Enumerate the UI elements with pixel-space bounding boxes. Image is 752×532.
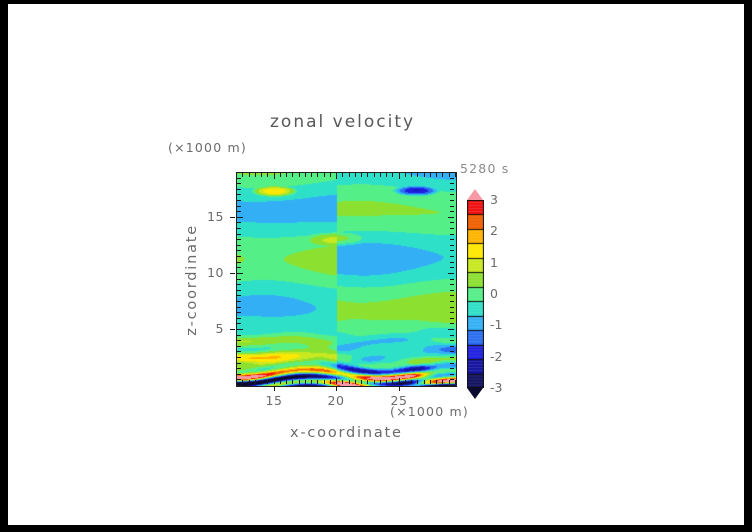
colorbar-tick-label: -3 (490, 380, 502, 395)
axis-tick (237, 385, 243, 386)
axis-tick (442, 380, 443, 384)
axis-tick (317, 380, 318, 384)
axis-tick (242, 380, 243, 384)
colorbar-extend-min-arrow (467, 388, 483, 399)
colorbar-tick-label: -2 (490, 349, 502, 364)
axis-tick (237, 172, 241, 173)
axis-tick (411, 380, 412, 384)
axis-tick (450, 245, 454, 246)
axis-tick-label: 15 (198, 209, 224, 224)
axis-tick (237, 245, 241, 246)
axis-tick (450, 346, 454, 347)
axis-tick (280, 173, 281, 177)
axis-tick (237, 312, 241, 313)
axis-tick (450, 318, 454, 319)
contour-field-canvas (237, 173, 456, 386)
axis-tick (336, 386, 337, 391)
axis-tick (380, 380, 381, 384)
axis-tick (237, 183, 241, 184)
axis-tick (299, 173, 300, 177)
axis-tick (450, 267, 454, 268)
axis-tick (417, 380, 418, 384)
axis-tick (237, 340, 241, 341)
axis-tick (450, 189, 454, 190)
axis-tick (237, 256, 241, 257)
axis-tick (450, 363, 454, 364)
figure-window: zonal velocity (×1000 m) 5280 s 15202551… (0, 0, 752, 532)
axis-tick (261, 380, 262, 384)
axis-tick (237, 357, 241, 358)
axis-tick (237, 290, 241, 291)
axis-tick (380, 173, 381, 177)
axis-tick (274, 378, 275, 384)
axis-tick (237, 346, 241, 347)
axis-tick (450, 222, 454, 223)
axis-tick (292, 173, 293, 177)
axis-tick (342, 173, 343, 177)
axis-tick-label: 5 (198, 321, 224, 336)
axis-tick (450, 211, 454, 212)
axis-tick (274, 173, 275, 179)
axis-tick (299, 380, 300, 384)
axis-tick (450, 206, 454, 207)
axis-tick (236, 173, 237, 177)
axis-tick (448, 385, 454, 386)
axis-tick-label: 15 (266, 393, 283, 408)
axis-tick (450, 374, 454, 375)
axis-tick (424, 173, 425, 177)
colorbar-tick-label: -1 (490, 317, 502, 332)
axis-tick (311, 380, 312, 384)
axis-tick (267, 173, 268, 177)
axis-tick (237, 323, 241, 324)
axis-tick (430, 380, 431, 384)
axis-tick (450, 368, 454, 369)
axis-tick (237, 363, 241, 364)
axis-tick (450, 307, 454, 308)
axis-tick (442, 173, 443, 177)
axis-tick (237, 189, 241, 190)
axis-tick (324, 380, 325, 384)
axis-tick (455, 380, 456, 384)
axis-tick (237, 267, 241, 268)
axis-tick (449, 380, 450, 384)
axis-tick (450, 256, 454, 257)
axis-tick (450, 279, 454, 280)
axis-tick (424, 380, 425, 384)
axis-tick (405, 380, 406, 384)
axis-tick (405, 173, 406, 177)
axis-tick (330, 380, 331, 384)
axis-tick (237, 178, 241, 179)
axis-tick (450, 194, 454, 195)
axis-tick (280, 380, 281, 384)
axis-tick (450, 239, 454, 240)
axis-tick (367, 173, 368, 177)
axis-tick (286, 173, 287, 177)
axis-tick (330, 173, 331, 177)
axis-tick (450, 172, 454, 173)
axis-tick (237, 222, 241, 223)
axis-tick (450, 200, 454, 201)
axis-tick (450, 340, 454, 341)
axis-tick (261, 173, 262, 177)
axis-tick (342, 380, 343, 384)
axis-tick (237, 206, 241, 207)
axis-tick (436, 173, 437, 177)
axis-tick (237, 273, 243, 274)
axis-tick (392, 173, 393, 177)
axis-tick (237, 351, 241, 352)
axis-tick (450, 262, 454, 263)
axis-tick (236, 380, 237, 384)
axis-tick (448, 273, 454, 274)
page-title: zonal velocity (270, 112, 415, 132)
axis-tick (450, 323, 454, 324)
axis-tick (349, 173, 350, 177)
axis-tick (450, 357, 454, 358)
axis-tick (399, 386, 400, 391)
axis-tick (336, 173, 337, 179)
y-axis-title: z-coordinate (184, 224, 200, 336)
axis-tick (305, 173, 306, 177)
axis-tick (448, 329, 454, 330)
colorbar-tick-label: 2 (490, 223, 498, 238)
x-axis-title: x-coordinate (290, 425, 403, 441)
axis-tick (317, 173, 318, 177)
axis-tick (305, 380, 306, 384)
axis-tick (436, 380, 437, 384)
axis-tick (450, 312, 454, 313)
axis-tick (237, 262, 241, 263)
axis-tick (237, 301, 241, 302)
axis-tick (411, 173, 412, 177)
axis-tick (292, 380, 293, 384)
axis-tick (450, 284, 454, 285)
axis-tick (249, 173, 250, 177)
axis-tick (455, 173, 456, 177)
axis-tick (237, 239, 241, 240)
axis-tick (324, 173, 325, 177)
axis-tick (374, 380, 375, 384)
x-axis-units-label: (×1000 m) (390, 404, 469, 419)
axis-tick-label: 20 (328, 393, 345, 408)
axis-tick (450, 379, 454, 380)
axis-tick (450, 301, 454, 302)
axis-tick (286, 380, 287, 384)
axis-tick (237, 307, 241, 308)
axis-tick (237, 217, 243, 218)
axis-tick (311, 173, 312, 177)
axis-tick (399, 378, 400, 384)
axis-tick (450, 351, 454, 352)
axis-tick (237, 379, 241, 380)
y-axis-units-label: (×1000 m) (168, 140, 247, 155)
axis-tick (274, 386, 275, 391)
axis-tick (430, 173, 431, 177)
axis-tick (336, 378, 337, 384)
contour-plot-area (236, 172, 457, 387)
axis-tick (392, 380, 393, 384)
axis-tick (361, 173, 362, 177)
axis-tick (448, 217, 454, 218)
axis-tick (449, 173, 450, 177)
axis-tick (450, 228, 454, 229)
axis-tick (355, 380, 356, 384)
colorbar-tick-label: 1 (490, 255, 498, 270)
axis-tick (249, 380, 250, 384)
axis-tick (399, 173, 400, 179)
axis-tick (237, 250, 241, 251)
axis-tick (237, 335, 241, 336)
time-stamp-label: 5280 s (460, 161, 510, 176)
axis-tick (242, 173, 243, 177)
axis-tick (237, 211, 241, 212)
figure-canvas: zonal velocity (×1000 m) 5280 s 15202551… (8, 4, 744, 525)
axis-tick (255, 380, 256, 384)
axis-tick (230, 329, 235, 330)
axis-tick (237, 295, 241, 296)
axis-tick (367, 380, 368, 384)
colorbar-tick-label: 3 (490, 192, 498, 207)
axis-tick (267, 380, 268, 384)
axis-tick (450, 335, 454, 336)
colorbar-tick-label: 0 (490, 286, 498, 301)
axis-tick (355, 173, 356, 177)
axis-tick-label: 10 (198, 265, 224, 280)
axis-tick (237, 234, 241, 235)
axis-tick (450, 183, 454, 184)
axis-tick (237, 284, 241, 285)
colorbar-extend-max-arrow (467, 189, 483, 200)
axis-tick (255, 173, 256, 177)
colorbar (467, 200, 484, 388)
axis-tick (237, 279, 241, 280)
axis-tick (450, 250, 454, 251)
axis-tick (450, 290, 454, 291)
colorbar-gradient (467, 200, 484, 388)
axis-tick (386, 380, 387, 384)
axis-tick (230, 217, 235, 218)
axis-tick (237, 329, 243, 330)
axis-tick (450, 178, 454, 179)
axis-tick (374, 173, 375, 177)
axis-tick (417, 173, 418, 177)
axis-tick (386, 173, 387, 177)
axis-tick (230, 273, 235, 274)
axis-tick (237, 228, 241, 229)
axis-tick (237, 194, 241, 195)
axis-tick (237, 368, 241, 369)
axis-tick (349, 380, 350, 384)
axis-tick (361, 380, 362, 384)
axis-tick (450, 234, 454, 235)
axis-tick (237, 318, 241, 319)
axis-tick (237, 374, 241, 375)
axis-tick (237, 200, 241, 201)
axis-tick (450, 295, 454, 296)
